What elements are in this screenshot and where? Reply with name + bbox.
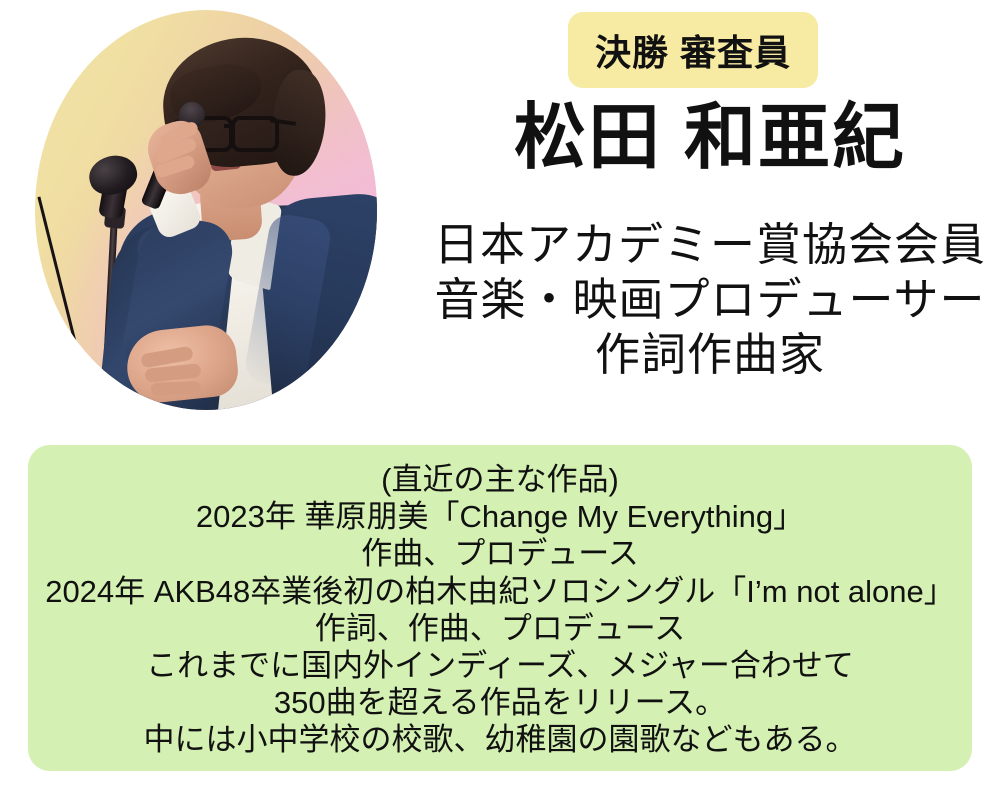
person-titles: 日本アカデミー賞協会会員 音楽・映画プロデューサー 作詞作曲家 xyxy=(410,218,1000,383)
title-line-1: 日本アカデミー賞協会会員 xyxy=(410,218,1000,273)
works-line-8: 中には小中学校の校歌、幼稚園の園歌などもある。 xyxy=(28,721,972,758)
recent-works-text: (直近の主な作品) 2023年 華原朋美「Change My Everythin… xyxy=(28,461,972,759)
works-line-4: 2024年 AKB48卒業後初の柏木由紀ソロシングル「I’m not alone… xyxy=(28,573,972,610)
title-line-2: 音楽・映画プロデューサー xyxy=(410,273,1000,328)
role-badge: 決勝 審査員 xyxy=(568,12,818,88)
recent-works-panel: (直近の主な作品) 2023年 華原朋美「Change My Everythin… xyxy=(28,445,972,771)
works-line-6: これまでに国内外インディーズ、メジャー合わせて xyxy=(28,647,972,684)
eyeglasses-bridge xyxy=(224,124,234,128)
works-line-7: 350曲を超える作品をリリース。 xyxy=(28,684,972,721)
works-line-1: (直近の主な作品) xyxy=(28,461,972,498)
profile-photo xyxy=(35,10,377,410)
works-line-2: 2023年 華原朋美「Change My Everything」 xyxy=(28,498,972,535)
person-name: 松田 和亜紀 xyxy=(420,102,1000,174)
finger xyxy=(151,381,201,396)
title-line-3: 作詞作曲家 xyxy=(410,328,1000,383)
works-line-3: 作曲、プロデュース xyxy=(28,535,972,572)
works-line-5: 作詞、作曲、プロデュース xyxy=(28,610,972,647)
